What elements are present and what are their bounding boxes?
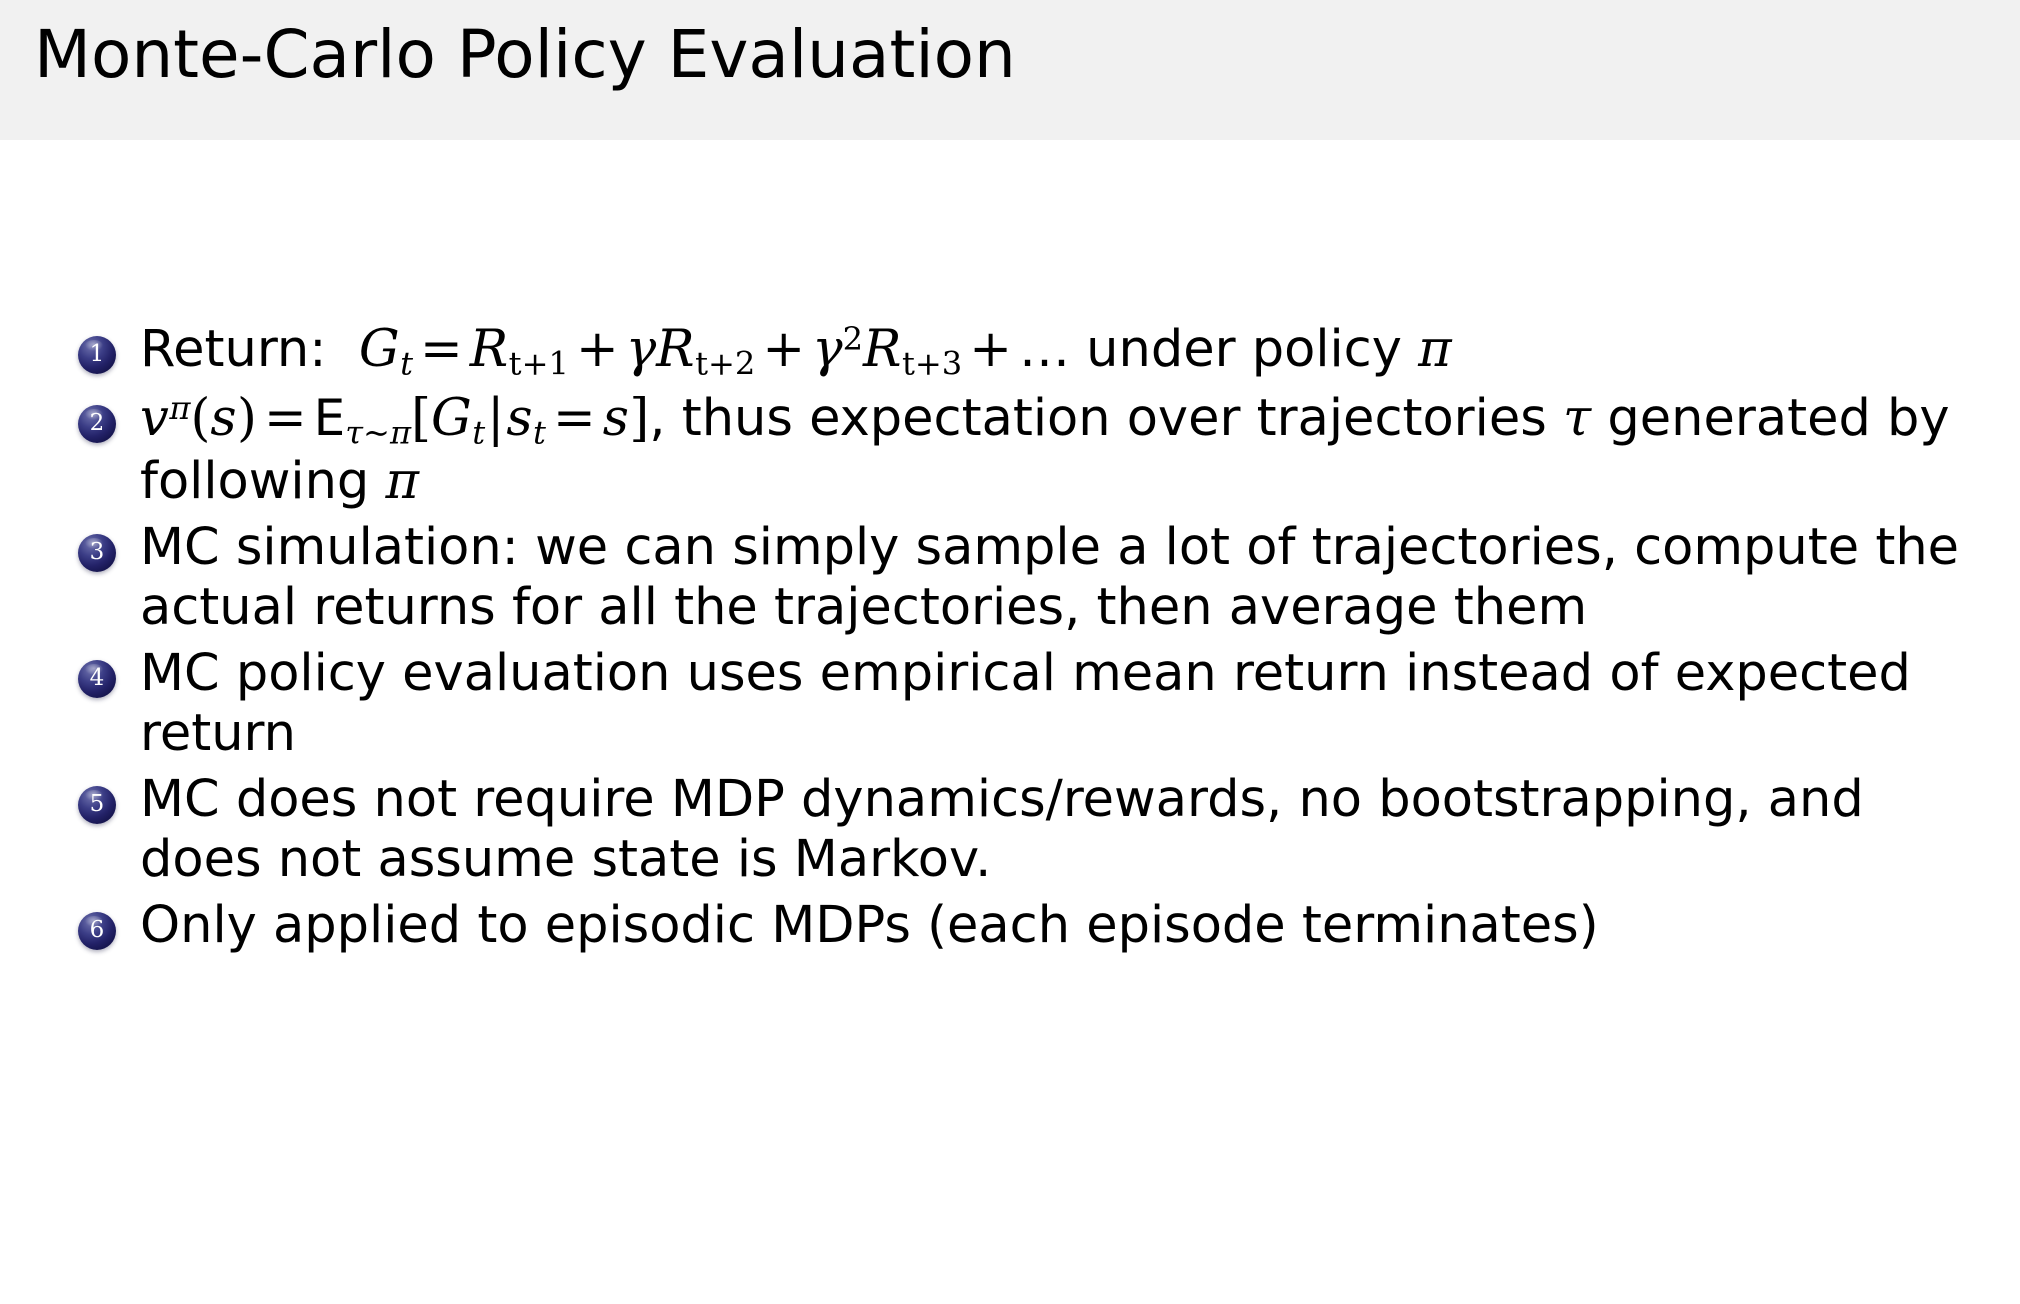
bullet-marker-4: 4 [78,660,116,698]
math-v-superscript: π [169,389,190,427]
math-bracket-open: [ [411,389,431,448]
list-item: 5 MC does not require MDP dynamics/rewar… [78,770,1978,890]
math-state-s: s [506,389,533,448]
list-item: 1 Return: Gt=Rt+1+γRt+2+γ2Rt+3+… under p… [78,320,1978,383]
math-pi-2: π [386,452,420,511]
bullet-number: 4 [78,660,116,698]
math-G: G [359,320,400,379]
math-s-value: s [603,389,630,448]
slide-title-band: Monte-Carlo Policy Evaluation [0,0,2020,140]
list-item: 2 vπ(s)=Eτ∼π[Gt|st=s], thus expectation … [78,389,1978,512]
bullet-marker-5: 5 [78,786,116,824]
list-item-text: MC does not require MDP dynamics/rewards… [140,770,1978,890]
math-state-s-sub: t [533,413,546,451]
math-G-sub: t [400,344,413,382]
bullet-2-equation: vπ(s)=Eτ∼π[Gt|st=s] [140,389,649,448]
math-tau: τ [1563,389,1591,448]
math-expectation-E: E [314,389,346,447]
list-item: 4 MC policy evaluation uses empirical me… [78,644,1978,764]
list-item-text: vπ(s)=Eτ∼π[Gt|st=s], thus expectation ov… [140,389,1978,512]
math-G-2-sub: t [472,413,485,451]
math-plus-3: + [962,320,1019,379]
math-gamma-1: γ [626,320,656,379]
math-equals: = [413,320,470,379]
math-paren-open: ( [190,389,210,448]
math-exp-sub-pi: π [390,413,411,451]
math-R3-sub: t+3 [902,344,962,382]
bullet-number: 5 [78,786,116,824]
bullet-marker-6: 6 [78,912,116,950]
math-G-2: G [431,389,472,448]
bullet-marker-2: 2 [78,405,116,443]
math-equals-3: = [546,389,603,448]
page-title: Monte-Carlo Policy Evaluation [34,22,1016,88]
list-item-text: Return: Gt=Rt+1+γRt+2+γ2Rt+3+… under pol… [140,320,1978,383]
math-R2: R [656,320,695,379]
bullet-2-tail-1: , thus expectation over trajectories [649,389,1546,448]
math-R3: R [863,320,902,379]
bullet-number: 2 [78,405,116,443]
math-exp-sub-tau: τ [345,413,363,451]
math-plus-2: + [755,320,812,379]
math-exp-sub-sim: ∼ [363,413,390,451]
bullet-number: 6 [78,912,116,950]
math-R1: R [470,320,509,379]
bullet-1-equation: Gt=Rt+1+γRt+2+γ2Rt+3+… [359,320,1070,379]
math-R1-sub: t+1 [509,344,569,382]
bullet-1-lead: Return: [140,320,326,379]
list-item: 6 Only applied to episodic MDPs (each ep… [78,896,1978,956]
bullet-number: 3 [78,534,116,572]
math-v: v [140,389,169,448]
list-item-text: MC policy evaluation uses empirical mean… [140,644,1978,764]
math-ellipsis: … [1019,320,1070,379]
math-equals-2: = [257,389,314,448]
math-s: s [210,389,237,448]
bullet-marker-3: 3 [78,534,116,572]
bullet-number: 1 [78,336,116,374]
math-paren-close: ) [237,389,257,448]
bullet-marker-1: 1 [78,336,116,374]
math-gamma-2: γ [812,320,842,379]
list-item-text: Only applied to episodic MDPs (each epis… [140,896,1978,956]
list-item-text: MC simulation: we can simply sample a lo… [140,518,1978,638]
bullet-1-tail: under policy [1086,320,1402,379]
bullet-list: 1 Return: Gt=Rt+1+γRt+2+γ2Rt+3+… under p… [78,320,1978,962]
math-R2-sub: t+2 [695,344,755,382]
slide-body: 1 Return: Gt=Rt+1+γRt+2+γ2Rt+3+… under p… [0,140,2020,1304]
math-gamma-2-exponent: 2 [843,320,863,358]
math-conditional-bar: | [485,389,506,448]
list-item: 3 MC simulation: we can simply sample a … [78,518,1978,638]
math-bracket-close: ] [629,389,649,448]
math-pi-1: π [1418,320,1452,379]
math-plus-1: + [569,320,626,379]
